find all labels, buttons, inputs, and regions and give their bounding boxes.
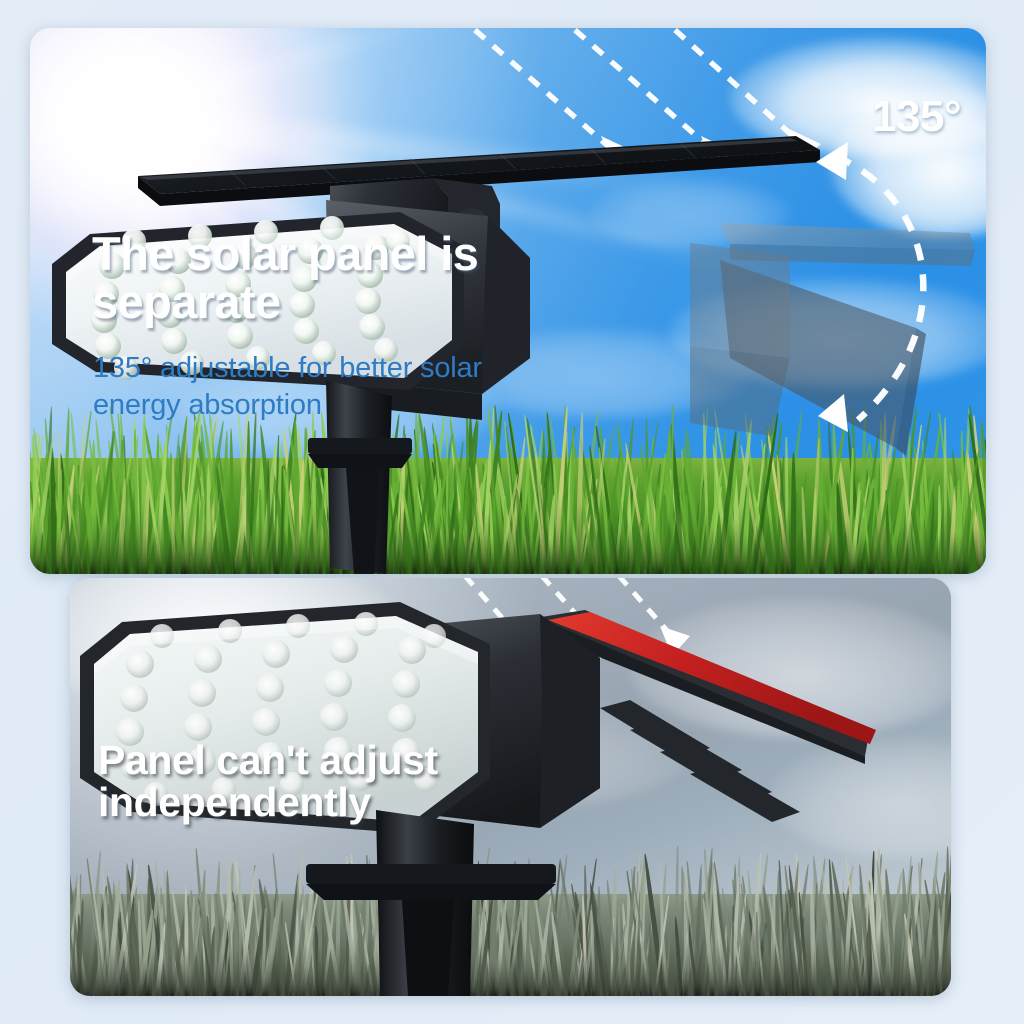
panel-top-subtitle: 135° adjustable for better solar energy … xyxy=(93,350,482,424)
grass-blade xyxy=(259,489,262,574)
grass-foreground-gray xyxy=(70,846,951,996)
infographic-canvas: The solar panel is separate 135° adjusta… xyxy=(0,0,1024,1024)
grass-blade xyxy=(238,868,242,996)
grass-blade xyxy=(281,466,283,574)
grass-blade xyxy=(171,458,174,574)
panel-top-headline: The solar panel is separate xyxy=(92,230,478,326)
grass-blade xyxy=(791,452,796,574)
panel-bottom-headline: Panel can't adjust independently xyxy=(98,740,438,824)
grass-blade xyxy=(812,879,814,996)
panel-fixed-solar: Panel can't adjust independently xyxy=(70,578,951,996)
grass-foreground-green xyxy=(30,404,986,574)
panel-adjustable-solar: The solar panel is separate 135° adjusta… xyxy=(30,28,986,574)
angle-label-135: 135° xyxy=(872,92,961,142)
grass-blade xyxy=(671,405,673,574)
